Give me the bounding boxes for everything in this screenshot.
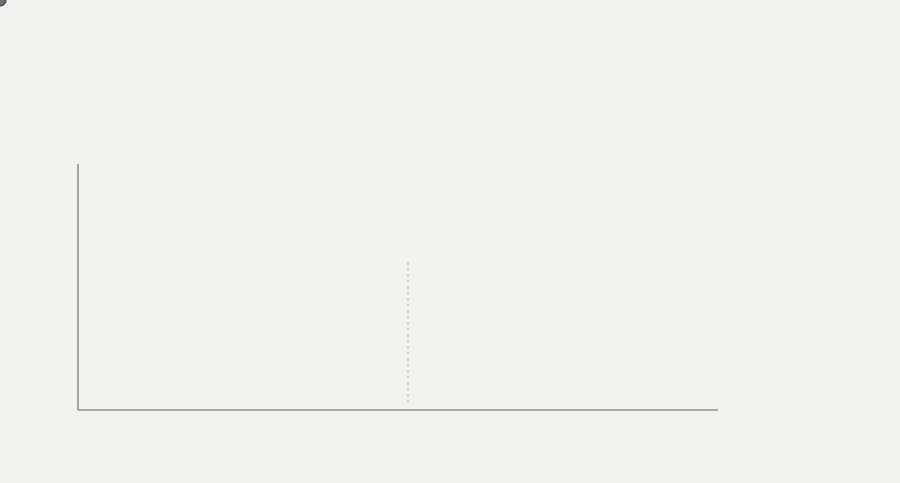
infographic-root (0, 0, 900, 483)
marker-1988-end (0, 0, 6, 6)
line-chart (0, 0, 900, 483)
chart-axes (78, 164, 718, 410)
